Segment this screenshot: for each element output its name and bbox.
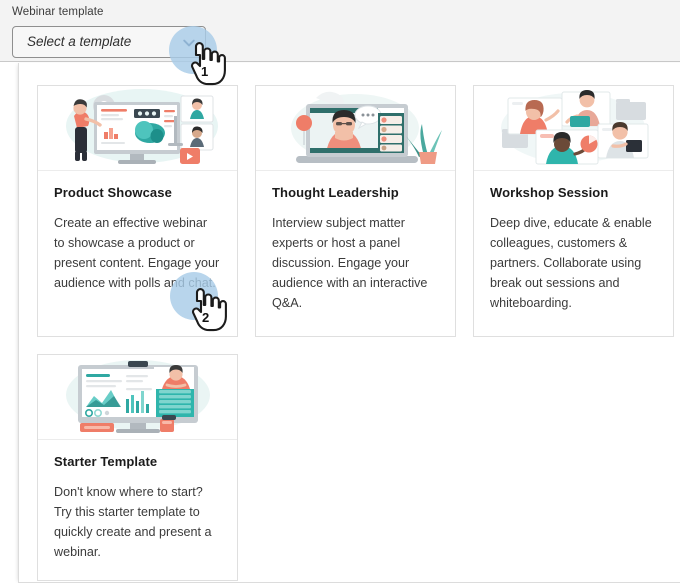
- chevron-down-icon[interactable]: [181, 35, 197, 51]
- card-body: Thought Leadership Interview subject mat…: [256, 171, 455, 336]
- card-body: Starter Template Don't know where to sta…: [38, 440, 237, 580]
- card-description: Create an effective webinar to showcase …: [54, 213, 221, 293]
- template-card-thought-leadership[interactable]: Thought Leadership Interview subject mat…: [255, 85, 456, 337]
- select-value-text: Select a template: [27, 34, 131, 49]
- webinar-template-select[interactable]: Select a template: [12, 26, 206, 58]
- card-title: Starter Template: [54, 454, 221, 469]
- card-body: Product Showcase Create an effective web…: [38, 171, 237, 336]
- card-title: Thought Leadership: [272, 185, 439, 200]
- screen-root: Webinar template Select a template: [0, 0, 680, 580]
- form-header: Webinar template Select a template: [0, 0, 680, 62]
- card-description: Interview subject matter experts or host…: [272, 213, 439, 313]
- template-card-product-showcase[interactable]: Product Showcase Create an effective web…: [37, 85, 238, 337]
- card-title: Workshop Session: [490, 185, 657, 200]
- template-card-grid: Product Showcase Create an effective web…: [37, 85, 677, 581]
- dashboard-monitor-illustration: [38, 355, 237, 440]
- card-title: Product Showcase: [54, 185, 221, 200]
- desktop-presentation-illustration: [38, 86, 237, 171]
- webinar-template-label: Webinar template: [12, 6, 104, 18]
- card-description: Deep dive, educate & enable colleagues, …: [490, 213, 657, 313]
- card-body: Workshop Session Deep dive, educate & en…: [474, 171, 673, 336]
- template-card-starter-template[interactable]: Starter Template Don't know where to sta…: [37, 354, 238, 581]
- template-dropdown-panel: Product Showcase Create an effective web…: [18, 63, 680, 583]
- collaboration-tiles-illustration: [474, 86, 673, 171]
- laptop-interview-illustration: [256, 86, 455, 171]
- card-description: Don't know where to start? Try this star…: [54, 482, 221, 562]
- template-card-workshop-session[interactable]: Workshop Session Deep dive, educate & en…: [473, 85, 674, 337]
